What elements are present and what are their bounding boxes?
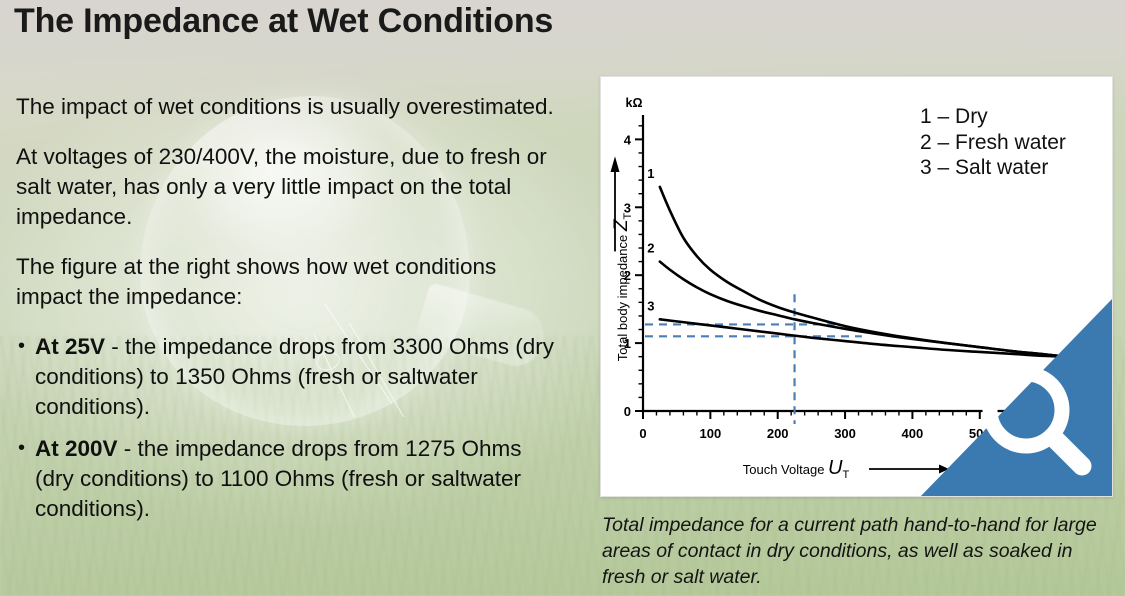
legend-item: 1 – Dry [920,104,1066,130]
y-tick-label: 4 [624,132,632,147]
page-title: The Impedance at Wet Conditions [14,2,553,41]
chart-legend: 1 – Dry 2 – Fresh water 3 – Salt water [920,104,1066,181]
paragraph: The impact of wet conditions is usually … [16,92,556,122]
x-tick-label: 0 [639,426,646,441]
x-tick-label: 400 [902,426,924,441]
paragraph: At voltages of 230/400V, the moisture, d… [16,142,556,232]
figure-caption: Total impedance for a current path hand-… [602,512,1114,590]
bullet-lead: At 200V [35,436,118,461]
legend-item: 3 – Salt water [920,155,1066,181]
body-text: The impact of wet conditions is usually … [16,92,556,536]
x-tick-label: 200 [767,426,789,441]
bullet-text: - the impedance drops from 3300 Ohms (dr… [35,334,554,419]
curve-label-1: 1 [647,166,654,181]
x-tick-label: 600 [1036,426,1058,441]
paragraph: The figure at the right shows how wet co… [16,252,556,312]
legend-item: 2 – Fresh water [920,130,1066,156]
slide: The Impedance at Wet Conditions The impa… [0,0,1125,596]
curve-label-3: 3 [647,298,654,313]
bullet-lead: At 25V [35,334,105,359]
x-tick-label: 100 [700,426,722,441]
list-item: At 200V - the impedance drops from 1275 … [16,434,556,524]
x-tick-label: 500 [969,426,991,441]
curve-label-2: 2 [647,241,654,256]
x-tick-label: 300 [834,426,856,441]
y-tick-label: 0 [624,404,631,419]
y-axis-unit-label: kΩ [626,96,643,110]
list-item: At 25V - the impedance drops from 3300 O… [16,332,556,422]
bullet-list: At 25V - the impedance drops from 3300 O… [16,332,556,524]
